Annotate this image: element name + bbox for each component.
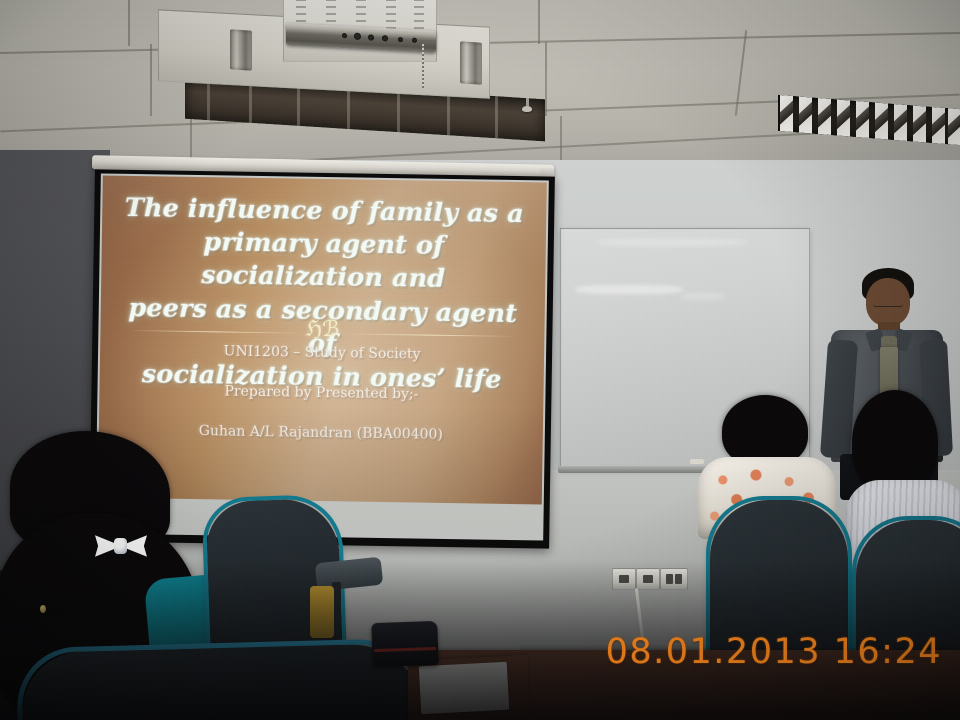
papers-on-desk[interactable] xyxy=(419,662,509,715)
air-conditioner-vent xyxy=(460,41,482,85)
hair-bow-knot xyxy=(114,538,127,554)
pencil-case[interactable] xyxy=(371,621,438,667)
camera-timestamp: 08.01.2013 16:24 xyxy=(606,632,942,672)
ceiling-tile-line xyxy=(545,42,547,116)
student-earring xyxy=(40,605,46,613)
ornament-glyph: ℌℬ xyxy=(305,319,339,342)
ceiling xyxy=(0,0,960,172)
ceiling-light-fixture xyxy=(778,95,960,145)
ceiling-tile-line xyxy=(150,44,152,116)
slide-title-line-2: primary agent of socialization and xyxy=(119,225,528,298)
ceiling-tile-line xyxy=(560,116,562,164)
ornament-rule-right xyxy=(347,333,513,337)
slide-title: The influence of family as a primary age… xyxy=(117,192,529,397)
ornament-rule-left xyxy=(131,330,297,334)
pencil-case-stripe xyxy=(374,647,436,652)
chair-foreground[interactable] xyxy=(21,643,423,720)
power-socket-3[interactable] xyxy=(660,568,688,590)
classroom-presentation-photo: The influence of family as a primary age… xyxy=(0,0,960,720)
power-socket-1[interactable] xyxy=(612,568,636,590)
yellow-item xyxy=(310,586,334,638)
air-conditioner-vent xyxy=(230,29,252,71)
smoke-detector xyxy=(522,106,532,112)
projector-safety-chain xyxy=(422,44,424,88)
slide-title-line-1: The influence of family as a xyxy=(120,192,529,232)
student-striped-hair xyxy=(852,390,938,494)
ceiling-tile-line xyxy=(538,0,540,44)
ceiling-tile-line xyxy=(128,0,130,46)
presenter-glasses xyxy=(873,299,903,307)
power-socket-2[interactable] xyxy=(636,568,660,590)
